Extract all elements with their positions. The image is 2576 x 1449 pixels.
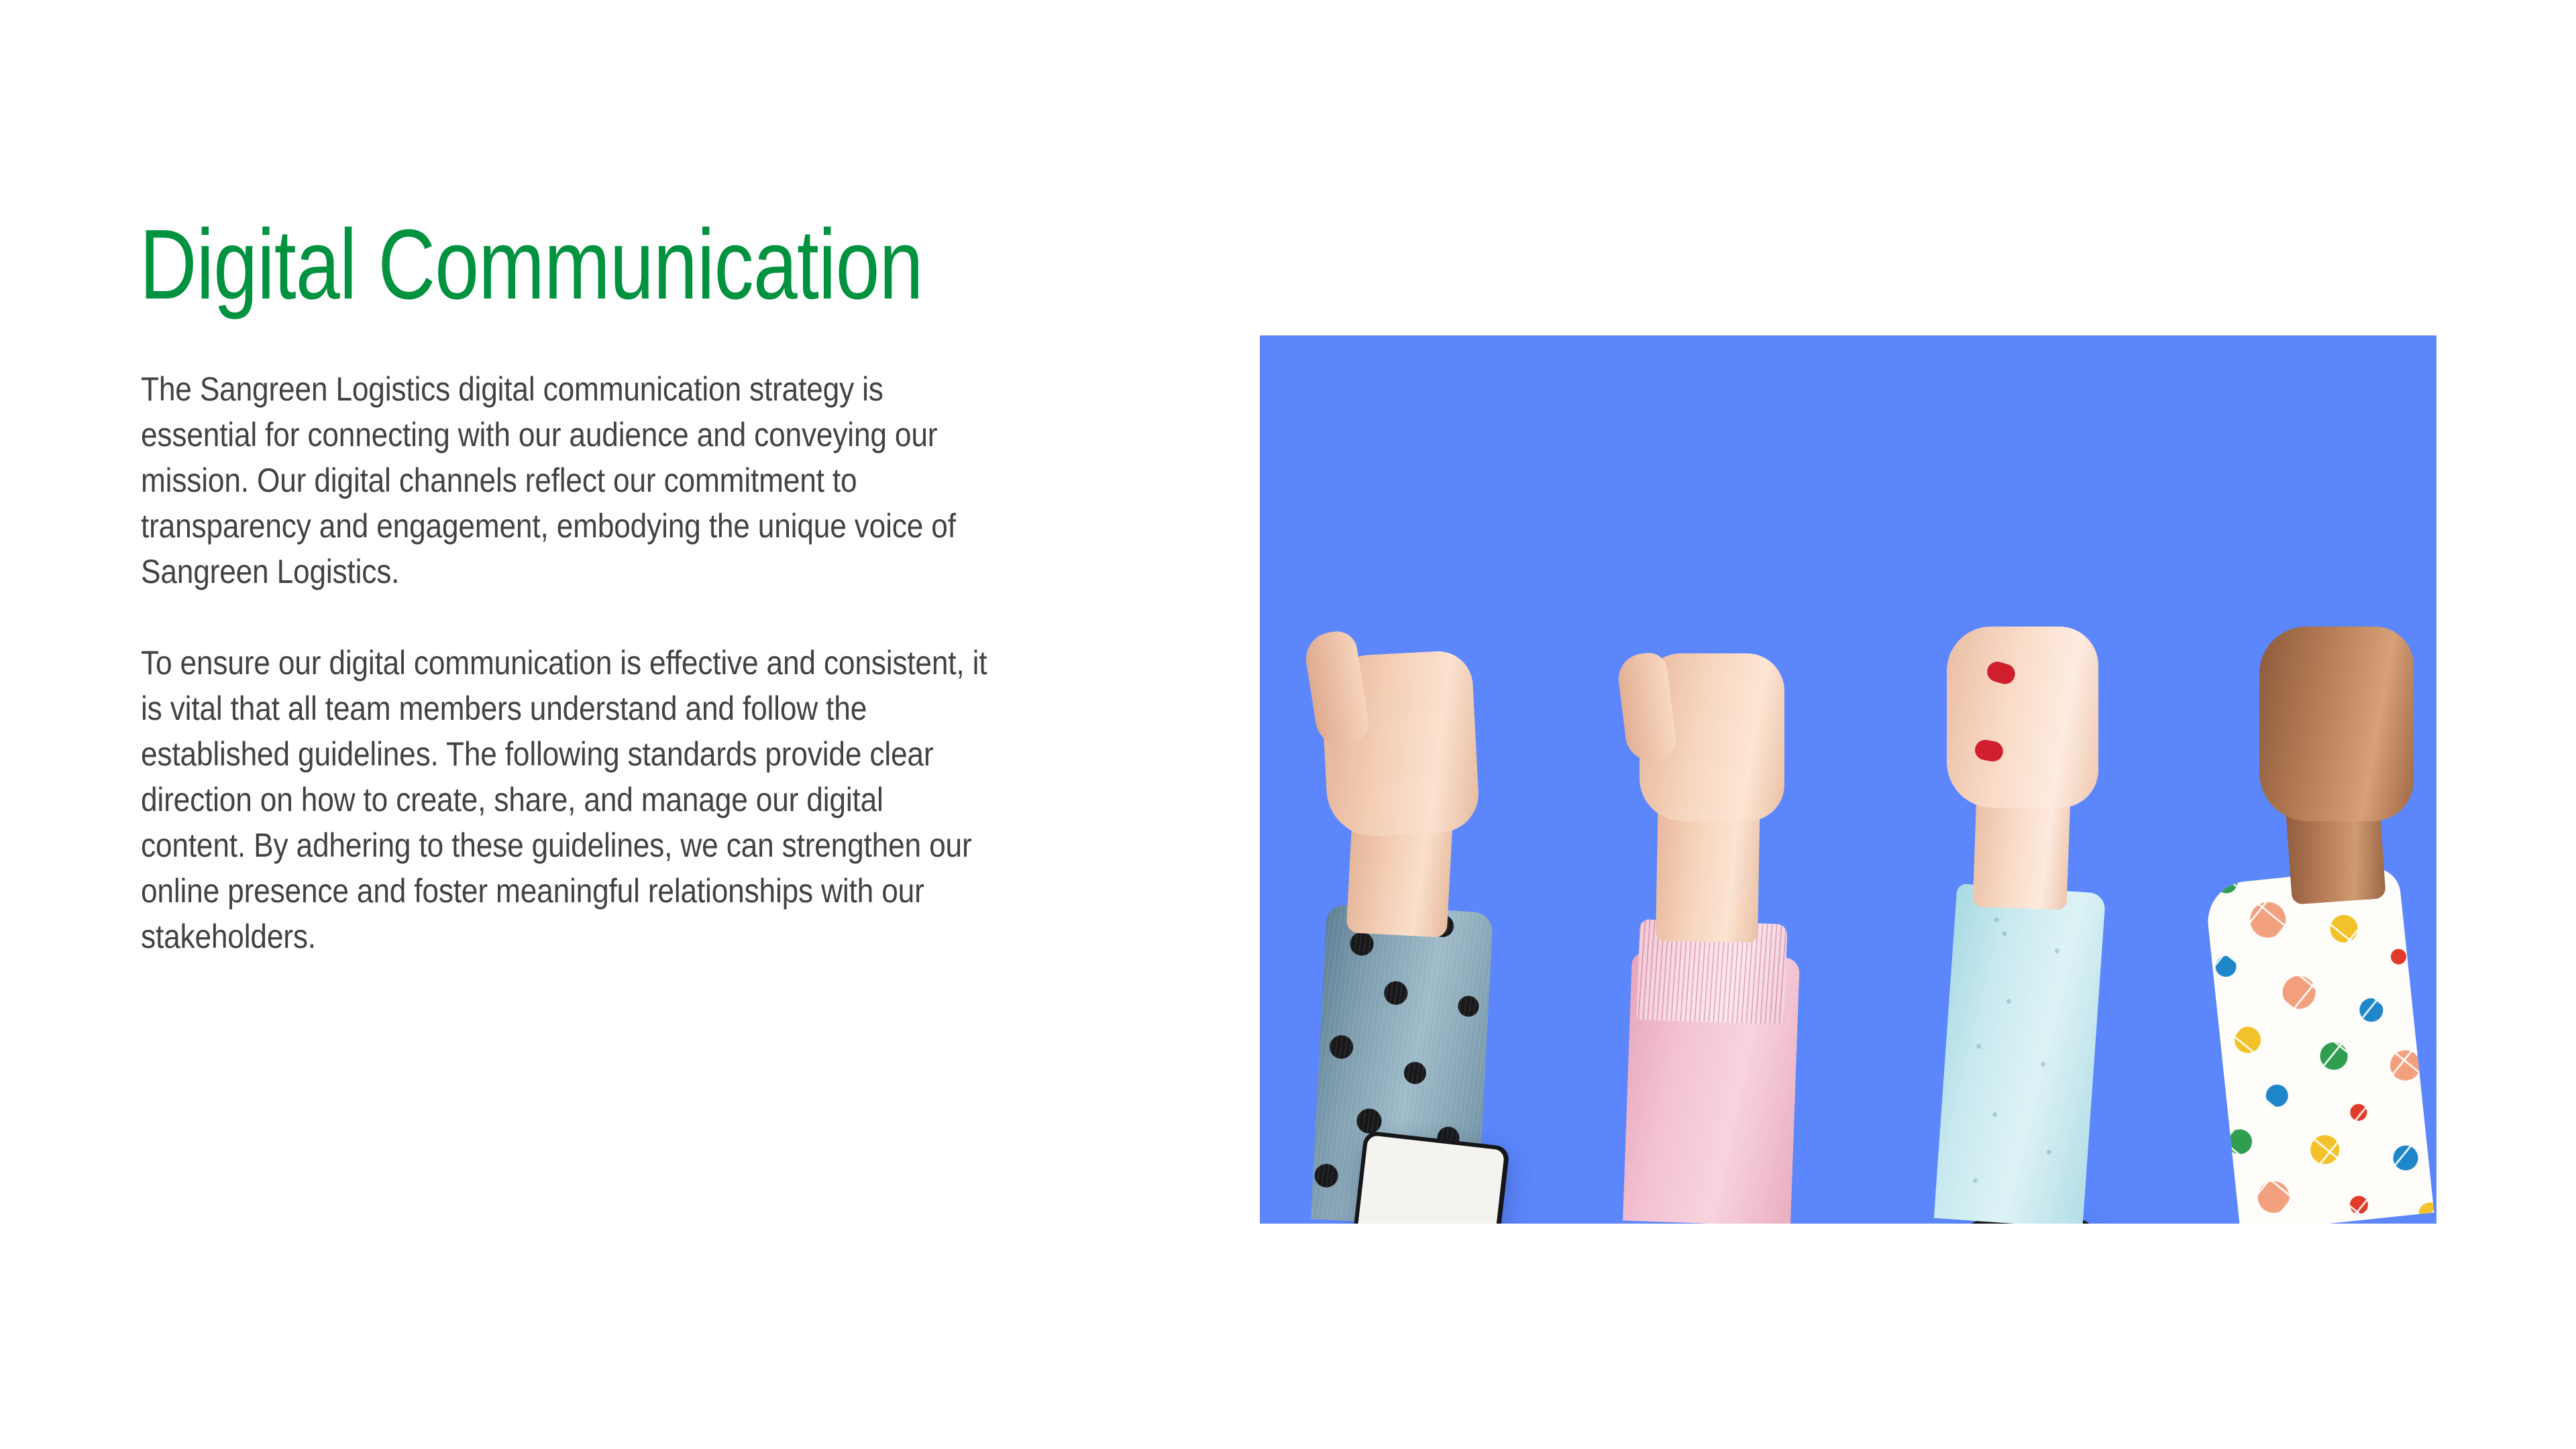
sleeve-white-floral [2204,865,2434,1224]
sleeve-light-blue-knit [1934,883,2106,1224]
page-title: Digital Communication [140,215,923,315]
body-text-column: The Sangreen Logistics digital communica… [141,366,993,959]
arm-thumbs-up [1615,888,1817,1224]
arm-play [2226,848,2434,1224]
body-paragraph-2: To ensure our digital communication is e… [141,640,996,959]
thumb-1 [1302,629,1372,749]
arm-chat [1931,861,2125,1224]
slide-canvas: Digital Communication The Sangreen Logis… [0,0,2576,1449]
hand-3 [1947,627,2098,808]
hero-photo [1260,335,2436,1224]
hand-4 [2259,627,2414,821]
arm-star [1300,848,1501,1224]
body-paragraph-1: The Sangreen Logistics digital communica… [141,366,996,594]
